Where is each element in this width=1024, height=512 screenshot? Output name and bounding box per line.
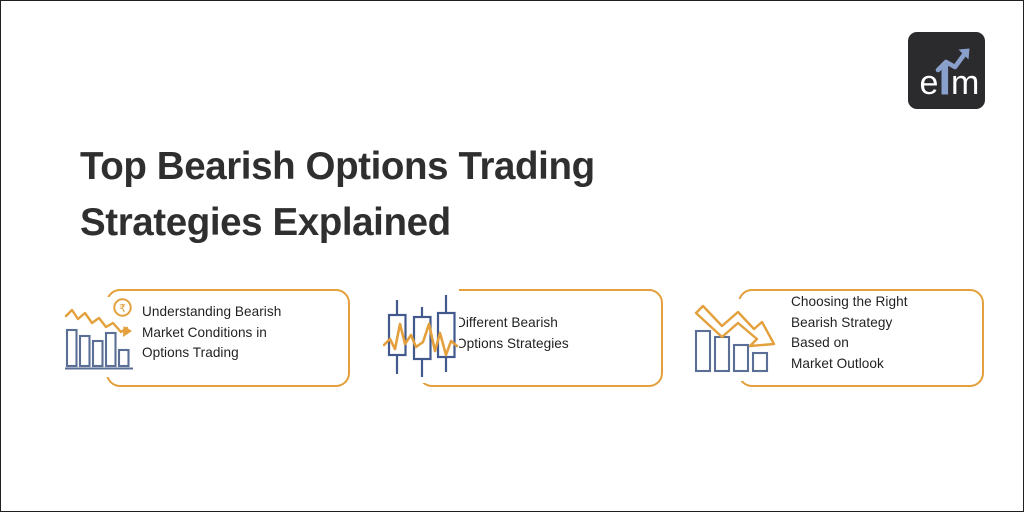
page-title-line-2: Strategies Explained (80, 195, 800, 251)
page-title: Top Bearish Options Trading Strategies E… (80, 139, 800, 251)
logo-letter-m: m (951, 64, 979, 102)
card-bearish-options-strategies-label: Different Bearish Options Strategies (456, 313, 656, 354)
declining-bar-chart-rupee-icon: ₹ (63, 297, 139, 377)
page-title-line-1: Top Bearish Options Trading (80, 139, 800, 195)
logo-letter-e: e (920, 64, 939, 102)
elm-logo[interactable]: e m (908, 32, 985, 109)
declining-bars-down-arrow-icon (692, 299, 780, 381)
down-arrow-icon (696, 306, 774, 346)
logo-letter-l (942, 63, 949, 95)
volatility-line (384, 324, 457, 355)
rupee-symbol: ₹ (119, 303, 126, 315)
candlestick-chart-icon (383, 289, 459, 383)
card-bearish-market-conditions-label: Understanding Bearish Market Conditions … (142, 302, 347, 364)
card-choosing-right-strategy-label: Choosing the Right Bearish Strategy Base… (791, 292, 986, 374)
bar-group (67, 330, 129, 366)
infographic-canvas: e m Top Bearish Options Trading Strategi… (0, 0, 1024, 512)
